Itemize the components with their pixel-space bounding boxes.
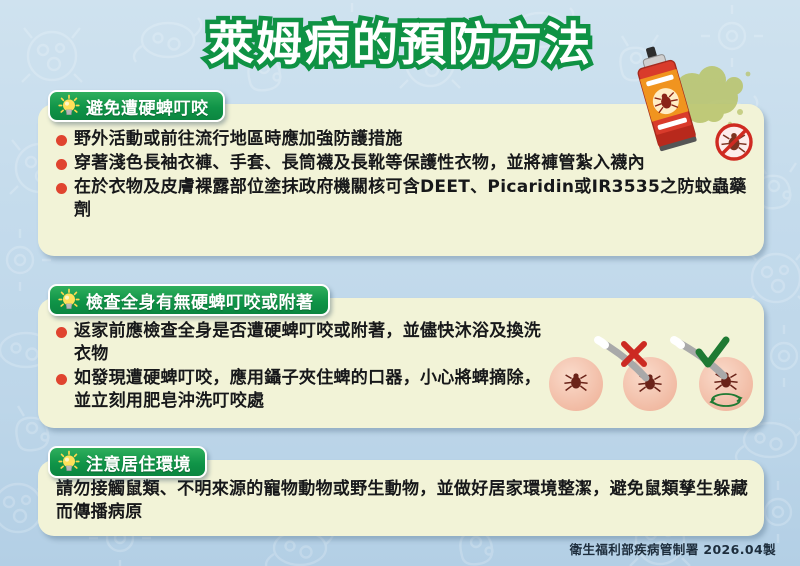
lightbulb-icon xyxy=(58,288,80,312)
skin-patch-tick-attached xyxy=(549,357,603,411)
list-item-text: 野外活動或前往流行地區時應加強防護措施 xyxy=(74,128,403,151)
bullet-dot-icon xyxy=(56,159,67,170)
list-item-text: 在於衣物及皮膚裸露部位塗抹政府機關核可含DEET、Picaridin或IR353… xyxy=(74,176,756,222)
wrong-mark xyxy=(624,344,644,364)
list-item-text: 穿著淺色長袖衣褲、手套、長筒襪及長靴等保護性衣物，並將褲管紮入襪內 xyxy=(74,152,645,175)
section-badge-label: 檢查全身有無硬蜱叮咬或附著 xyxy=(86,288,314,313)
list-item: 在於衣物及皮膚裸露部位塗抹政府機關核可含DEET、Picaridin或IR353… xyxy=(56,176,756,222)
section-badge-label: 避免遭硬蜱叮咬 xyxy=(86,94,209,119)
section-badge-label: 注意居住環境 xyxy=(86,450,191,475)
list-item: 返家前應檢查全身是否遭硬蜱叮咬或附著，並儘快沐浴及換洗衣物 xyxy=(56,320,556,366)
section-body-text: 請勿接觸鼠類、不明來源的寵物動物或野生動物，並做好居家環境整潔，避免鼠類孳生躲藏… xyxy=(56,478,762,524)
section-badge-living-environment: 注意居住環境 xyxy=(48,446,207,478)
section-body-living-environment: 請勿接觸鼠類、不明來源的寵物動物或野生動物，並做好居家環境整潔，避免鼠類孳生躲藏… xyxy=(56,478,762,524)
skin-patch-wrong-removal xyxy=(598,340,677,411)
lightbulb-icon xyxy=(58,94,80,118)
footer-credit: 衛生福利部疾病管制署 2026.04製 xyxy=(570,539,776,558)
bullet-dot-icon xyxy=(56,327,67,338)
no-tick-symbol xyxy=(717,125,751,159)
tick-removal-illustration xyxy=(536,326,768,426)
poster-canvas: 萊姆病的預防方法 xyxy=(0,0,800,566)
page-title: 萊姆病的預防方法 xyxy=(208,8,592,74)
section-badge-avoid-bites: 避免遭硬蜱叮咬 xyxy=(48,90,225,122)
section-body-body-check: 返家前應檢查全身是否遭硬蜱叮咬或附著，並儘快沐浴及換洗衣物 如發現遭硬蜱叮咬，應… xyxy=(56,320,556,414)
list-item-text: 返家前應檢查全身是否遭硬蜱叮咬或附著，並儘快沐浴及換洗衣物 xyxy=(74,320,556,366)
bullet-dot-icon xyxy=(56,374,67,385)
list-item: 如發現遭硬蜱叮咬，應用鑷子夾住蜱的口器，小心將蜱摘除，並立刻用肥皂沖洗叮咬處 xyxy=(56,367,556,413)
lightbulb-icon xyxy=(58,450,80,474)
bullet-dot-icon xyxy=(56,135,67,146)
section-badge-body-check: 檢查全身有無硬蜱叮咬或附著 xyxy=(48,284,330,316)
bullet-dot-icon xyxy=(56,183,67,194)
skin-patch-correct-removal xyxy=(674,340,753,411)
list-item-text: 如發現遭硬蜱叮咬，應用鑷子夾住蜱的口器，小心將蜱摘除，並立刻用肥皂沖洗叮咬處 xyxy=(74,367,556,413)
poster-title-wrap: 萊姆病的預防方法 xyxy=(0,8,800,74)
